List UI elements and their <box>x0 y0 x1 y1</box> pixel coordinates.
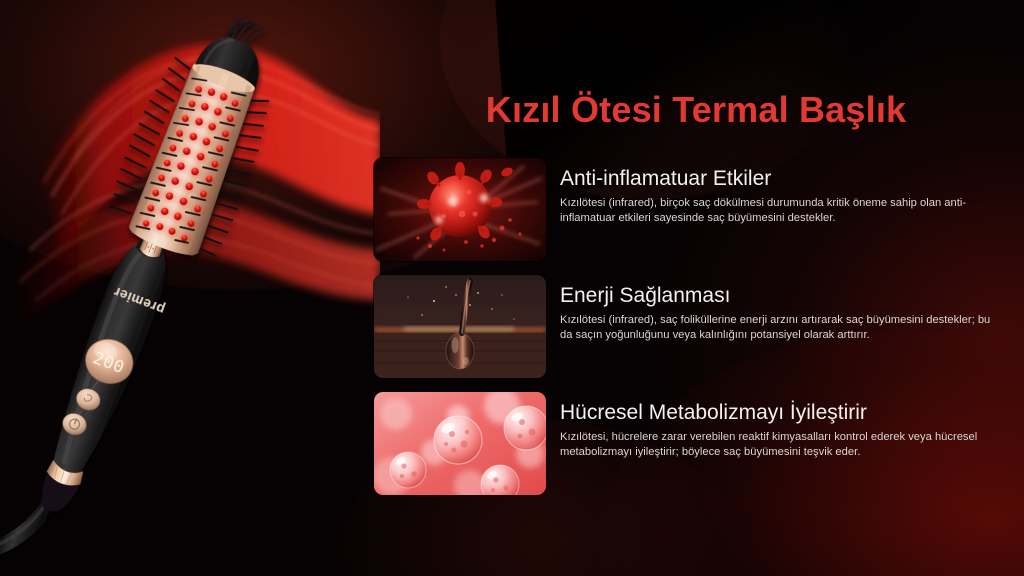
feature-item-cell-metabolism: Hücresel Metabolizmayı İyileştirir Kızıl… <box>374 392 1022 495</box>
promo-banner: 200 premier <box>0 0 1024 576</box>
feature-body: Kızılötesi (infrared), saç foliküllerine… <box>560 313 1002 342</box>
feature-text-block: Enerji Sağlanması Kızılötesi (infrared),… <box>546 275 1022 342</box>
feature-title: Hücresel Metabolizmayı İyileştirir <box>560 400 1022 426</box>
feature-item-energy-supply: Enerji Sağlanması Kızılötesi (infrared),… <box>374 275 1022 378</box>
hair-follicle-image <box>374 275 546 378</box>
virus-cell-infrared-image <box>374 158 546 261</box>
feature-item-anti-inflammatory: Anti-inflamatuar Etkiler Kızılötesi (inf… <box>374 158 1022 261</box>
feature-title: Enerji Sağlanması <box>560 283 1022 309</box>
feature-title: Anti-inflamatuar Etkiler <box>560 166 1022 192</box>
page-title: Kızıl Ötesi Termal Başlık <box>376 88 1016 132</box>
feature-text-block: Anti-inflamatuar Etkiler Kızılötesi (inf… <box>546 158 1022 225</box>
feature-body: Kızılötesi (infrared), birçok saç dökülm… <box>560 196 1002 225</box>
cell-metabolism-image <box>374 392 546 495</box>
content-panel: Kızıl Ötesi Termal Başlık <box>360 0 1024 576</box>
product-image-hair-brush: 200 premier <box>0 0 340 576</box>
feature-text-block: Hücresel Metabolizmayı İyileştirir Kızıl… <box>546 392 1022 459</box>
feature-body: Kızılötesi, hücrelere zarar verebilen re… <box>560 430 1002 459</box>
